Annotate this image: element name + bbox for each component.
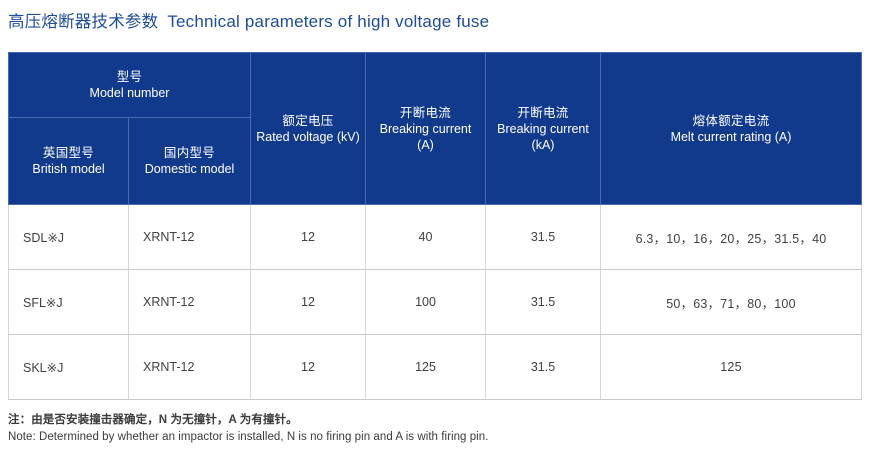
spec-table-wrapper: 型号 Model number 额定电压 Rated voltage (kV) …	[8, 52, 861, 400]
header-model-group-cn: 型号	[13, 69, 246, 85]
header-british-model-en: British model	[13, 161, 124, 177]
header-domestic-model: 国内型号 Domestic model	[129, 118, 251, 205]
header-breaking-current-a: 开断电流 Breaking current (A)	[366, 53, 486, 205]
spec-sheet-page: 高压熔断器技术参数Technical parameters of high vo…	[0, 0, 875, 474]
header-rated-voltage-cn: 额定电压	[255, 113, 361, 129]
table-row: SDL※J XRNT-12 12 40 31.5 6.3，10，16，20，25…	[9, 205, 862, 270]
cell-british-model: SFL※J	[9, 270, 129, 335]
cell-domestic-model: XRNT-12	[129, 270, 251, 335]
cell-breaking-current-ka: 31.5	[486, 205, 601, 270]
spec-table: 型号 Model number 额定电压 Rated voltage (kV) …	[8, 52, 862, 400]
page-title-en: Technical parameters of high voltage fus…	[167, 12, 489, 31]
header-breaking-current-ka-unit: (kA)	[490, 137, 596, 153]
cell-melt-current-rating: 6.3，10，16，20，25，31.5，40	[601, 205, 862, 270]
page-title: 高压熔断器技术参数Technical parameters of high vo…	[8, 10, 489, 34]
table-body: SDL※J XRNT-12 12 40 31.5 6.3，10，16，20，25…	[9, 205, 862, 400]
header-breaking-current-ka-en: Breaking current	[490, 121, 596, 137]
cell-rated-voltage: 12	[251, 270, 366, 335]
cell-rated-voltage: 12	[251, 205, 366, 270]
header-domestic-model-en: Domestic model	[133, 161, 246, 177]
header-melt-current-rating-cn: 熔体额定电流	[605, 113, 857, 129]
cell-british-model: SKL※J	[9, 335, 129, 400]
cell-domestic-model: XRNT-12	[129, 205, 251, 270]
footer-note: 注：由是否安装撞击器确定，N 为无撞针，A 为有撞针。 Note: Determ…	[8, 412, 868, 446]
header-melt-current-rating-en: Melt current rating (A)	[605, 129, 857, 145]
cell-british-model: SDL※J	[9, 205, 129, 270]
cell-breaking-current-ka: 31.5	[486, 270, 601, 335]
header-rated-voltage: 额定电压 Rated voltage (kV)	[251, 53, 366, 205]
cell-melt-current-rating: 125	[601, 335, 862, 400]
table-row: SFL※J XRNT-12 12 100 31.5 50，63，71，80，10…	[9, 270, 862, 335]
header-breaking-current-a-en: Breaking current	[370, 121, 481, 137]
page-title-cn: 高压熔断器技术参数	[8, 13, 158, 31]
header-domestic-model-cn: 国内型号	[133, 145, 246, 161]
footer-note-cn: 注：由是否安装撞击器确定，N 为无撞针，A 为有撞针。	[8, 412, 868, 429]
header-model-group-en: Model number	[13, 85, 246, 101]
cell-domestic-model: XRNT-12	[129, 335, 251, 400]
cell-breaking-current-a: 100	[366, 270, 486, 335]
cell-breaking-current-a: 125	[366, 335, 486, 400]
table-header: 型号 Model number 额定电压 Rated voltage (kV) …	[9, 53, 862, 205]
table-row: SKL※J XRNT-12 12 125 31.5 125	[9, 335, 862, 400]
header-breaking-current-a-unit: (A)	[370, 137, 481, 153]
header-melt-current-rating: 熔体额定电流 Melt current rating (A)	[601, 53, 862, 205]
cell-rated-voltage: 12	[251, 335, 366, 400]
header-british-model-cn: 英国型号	[13, 145, 124, 161]
header-rated-voltage-en: Rated voltage (kV)	[255, 129, 361, 145]
header-breaking-current-ka: 开断电流 Breaking current (kA)	[486, 53, 601, 205]
cell-breaking-current-a: 40	[366, 205, 486, 270]
cell-melt-current-rating: 50，63，71，80，100	[601, 270, 862, 335]
cell-breaking-current-ka: 31.5	[486, 335, 601, 400]
header-model-group: 型号 Model number	[9, 53, 251, 118]
footer-note-en: Note: Determined by whether an impactor …	[8, 429, 868, 446]
header-breaking-current-ka-cn: 开断电流	[490, 105, 596, 121]
header-british-model: 英国型号 British model	[9, 118, 129, 205]
table-header-row-1: 型号 Model number 额定电压 Rated voltage (kV) …	[9, 53, 862, 118]
header-breaking-current-a-cn: 开断电流	[370, 105, 481, 121]
